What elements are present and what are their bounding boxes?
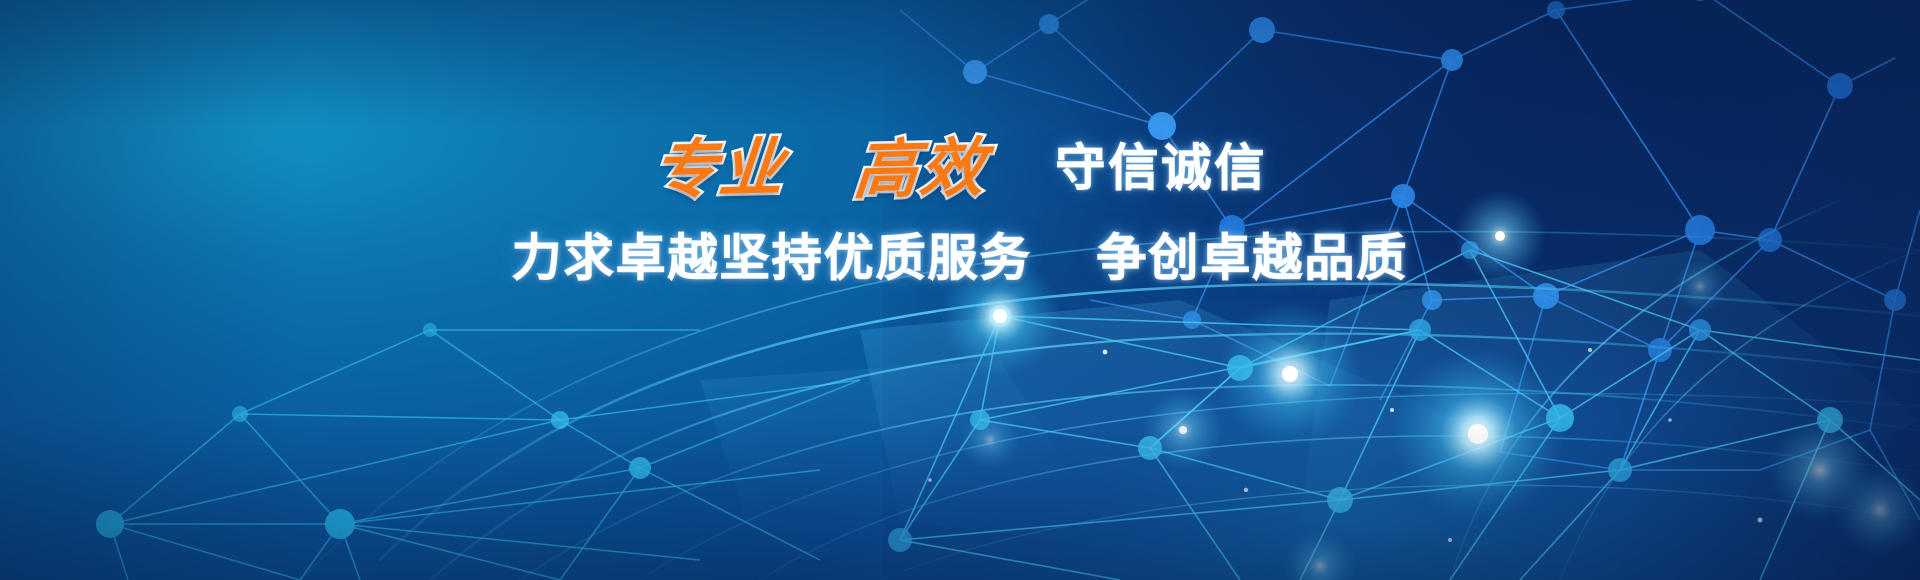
background-vignette <box>0 0 1920 580</box>
hero-banner: 专业 高效 守信诚信 力求卓越坚持优质服务 争创卓越品质 <box>0 0 1920 580</box>
